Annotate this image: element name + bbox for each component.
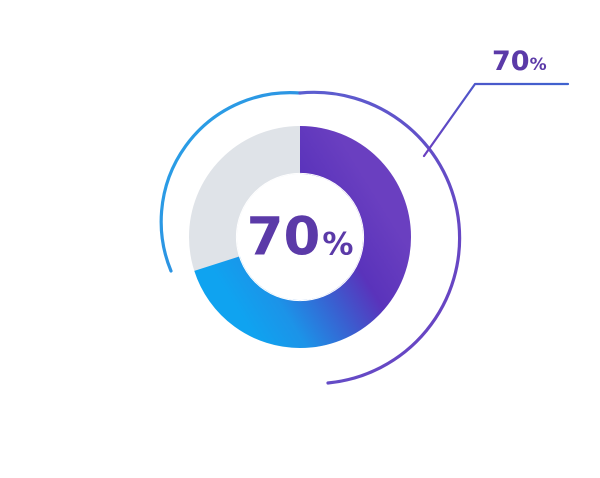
- chart-canvas: 70% 70%: [0, 0, 600, 478]
- donut-inner-hole: [237, 174, 363, 300]
- callout-value-number: 70: [492, 46, 530, 77]
- callout-leader-line: [424, 84, 568, 156]
- callout-value-unit: %: [530, 55, 547, 75]
- callout-value-label: 70%: [492, 48, 547, 75]
